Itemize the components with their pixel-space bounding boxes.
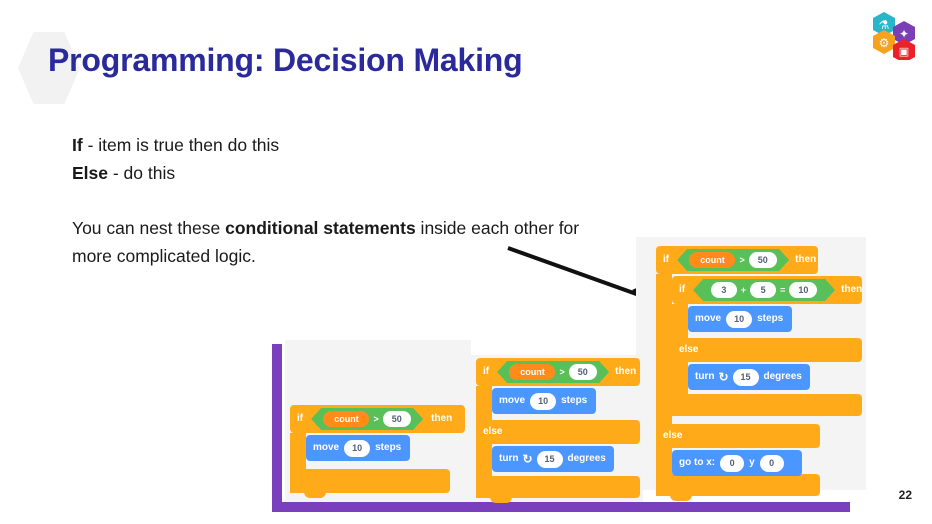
inner-left-spine-1 bbox=[672, 304, 688, 340]
turn-degrees-block[interactable]: turn ↻ 15 degrees bbox=[492, 446, 614, 472]
if-else-left-spine-1 bbox=[476, 386, 492, 422]
degrees-label: degrees bbox=[764, 372, 802, 382]
svg-text:⚙: ⚙ bbox=[879, 36, 890, 50]
if-else-bottom-notch bbox=[490, 496, 512, 503]
variable-count[interactable]: count bbox=[689, 252, 735, 268]
turn-clockwise-icon: ↻ bbox=[718, 371, 728, 383]
inner-else-row: else bbox=[679, 340, 698, 360]
operator-greater-than: > bbox=[739, 256, 744, 265]
move-steps-value[interactable]: 10 bbox=[726, 311, 752, 328]
turn-degrees-block[interactable]: turn ↻ 15 degrees bbox=[688, 364, 810, 390]
operator-plus: + bbox=[741, 286, 746, 295]
go-to-y-value[interactable]: 0 bbox=[760, 455, 784, 472]
simple-if-bottom-notch bbox=[304, 491, 326, 498]
else-definition-line: Else - do this bbox=[72, 159, 279, 187]
simple-if-block[interactable]: if count > 50 then move 10 steps bbox=[290, 405, 468, 497]
if-definition-rest: - item is true then do this bbox=[83, 135, 279, 155]
if-else-header-row: if count > 50 then bbox=[483, 358, 643, 386]
outer-if-header-row: if count > 50 then bbox=[663, 246, 823, 274]
turn-label: turn bbox=[499, 454, 518, 464]
threshold-value[interactable]: 50 bbox=[383, 411, 411, 427]
if-definition-line: If - item is true then do this bbox=[72, 131, 279, 159]
variable-count[interactable]: count bbox=[509, 364, 555, 380]
move-label: move bbox=[313, 443, 339, 453]
threshold-value[interactable]: 50 bbox=[569, 364, 597, 380]
go-to-label: go to x: bbox=[679, 458, 715, 468]
then-label: then bbox=[841, 285, 862, 295]
else-definition-rest: - do this bbox=[108, 163, 175, 183]
variable-count[interactable]: count bbox=[323, 411, 369, 427]
inner-left-spine-2 bbox=[672, 362, 688, 398]
inner-if-header-row: if 3 + 5 = 10 then bbox=[679, 276, 869, 304]
move-label: move bbox=[695, 314, 721, 324]
else-label: else bbox=[483, 427, 502, 437]
move-steps-block[interactable]: move 10 steps bbox=[306, 435, 410, 461]
operator-greater-than: > bbox=[559, 368, 564, 377]
outer-else-row: else bbox=[663, 426, 682, 446]
operator-equals: = bbox=[780, 286, 785, 295]
outer-bottom-notch bbox=[670, 494, 692, 501]
turn-clockwise-icon: ↻ bbox=[522, 453, 532, 465]
else-label: else bbox=[663, 431, 682, 441]
condition-hexagon[interactable]: count > 50 bbox=[497, 361, 609, 383]
page-title: Programming: Decision Making bbox=[48, 42, 522, 79]
steps-label: steps bbox=[757, 314, 783, 324]
logo-svg: ⚗ ✦ ⚙ ▣ bbox=[868, 8, 920, 60]
four-hexagon-logo: ⚗ ✦ ⚙ ▣ bbox=[868, 8, 920, 60]
operand-a[interactable]: 3 bbox=[711, 282, 737, 298]
steps-label: steps bbox=[561, 396, 587, 406]
operand-c[interactable]: 10 bbox=[789, 282, 817, 298]
inner-condition-hexagon[interactable]: 3 + 5 = 10 bbox=[693, 279, 835, 301]
else-keyword: Else bbox=[72, 163, 108, 183]
move-steps-value[interactable]: 10 bbox=[344, 440, 370, 457]
simple-if-left-spine bbox=[290, 433, 306, 469]
if-label: if bbox=[679, 285, 685, 295]
if-else-left-spine-2 bbox=[476, 444, 492, 480]
inner-footer-bar bbox=[672, 394, 862, 416]
move-steps-block[interactable]: move 10 steps bbox=[688, 306, 792, 332]
go-to-x-value[interactable]: 0 bbox=[720, 455, 744, 472]
condition-hexagon[interactable]: count > 50 bbox=[311, 408, 423, 430]
slide-canvas: Programming: Decision Making ⚗ ✦ ⚙ ▣ If … bbox=[0, 0, 932, 524]
if-label: if bbox=[483, 367, 489, 377]
operand-b[interactable]: 5 bbox=[750, 282, 776, 298]
nesting-text-prefix: You can nest these bbox=[72, 218, 225, 238]
threshold-value[interactable]: 50 bbox=[749, 252, 777, 268]
simple-if-footer-bar bbox=[290, 469, 450, 493]
nested-if-else-block[interactable]: if count > 50 then if 3 + 5 = 10 then bbox=[656, 246, 876, 486]
turn-degrees-value[interactable]: 15 bbox=[733, 369, 759, 386]
svg-text:⚗: ⚗ bbox=[879, 18, 890, 32]
inner-else-bar bbox=[672, 338, 862, 362]
svg-text:✦: ✦ bbox=[899, 27, 909, 41]
steps-label: steps bbox=[375, 443, 401, 453]
operator-greater-than: > bbox=[373, 415, 378, 424]
if-label: if bbox=[663, 255, 669, 265]
move-steps-block[interactable]: move 10 steps bbox=[492, 388, 596, 414]
then-label: then bbox=[615, 367, 636, 377]
y-label: y bbox=[749, 458, 755, 468]
outer-left-spine-1 bbox=[656, 274, 672, 436]
turn-degrees-value[interactable]: 15 bbox=[537, 451, 563, 468]
turn-label: turn bbox=[695, 372, 714, 382]
conditional-statements-emphasis: conditional statements bbox=[225, 218, 416, 238]
else-row: else bbox=[483, 422, 502, 442]
move-steps-value[interactable]: 10 bbox=[530, 393, 556, 410]
move-label: move bbox=[499, 396, 525, 406]
if-else-block[interactable]: if count > 50 then move 10 steps else tu… bbox=[476, 358, 644, 498]
go-to-xy-block[interactable]: go to x: 0 y 0 bbox=[672, 450, 802, 476]
page-number: 22 bbox=[899, 488, 912, 502]
if-else-definition-text: If - item is true then do this Else - do… bbox=[72, 131, 279, 187]
outer-condition-hexagon[interactable]: count > 50 bbox=[677, 249, 789, 271]
else-label: else bbox=[679, 345, 698, 355]
svg-text:▣: ▣ bbox=[899, 45, 909, 58]
then-label: then bbox=[431, 414, 452, 424]
if-else-footer-bar bbox=[476, 476, 640, 498]
if-label: if bbox=[297, 414, 303, 424]
if-keyword: If bbox=[72, 135, 83, 155]
then-label: then bbox=[795, 255, 816, 265]
degrees-label: degrees bbox=[568, 454, 606, 464]
simple-if-header-row: if count > 50 then bbox=[297, 405, 467, 433]
outer-footer-bar bbox=[656, 474, 820, 496]
